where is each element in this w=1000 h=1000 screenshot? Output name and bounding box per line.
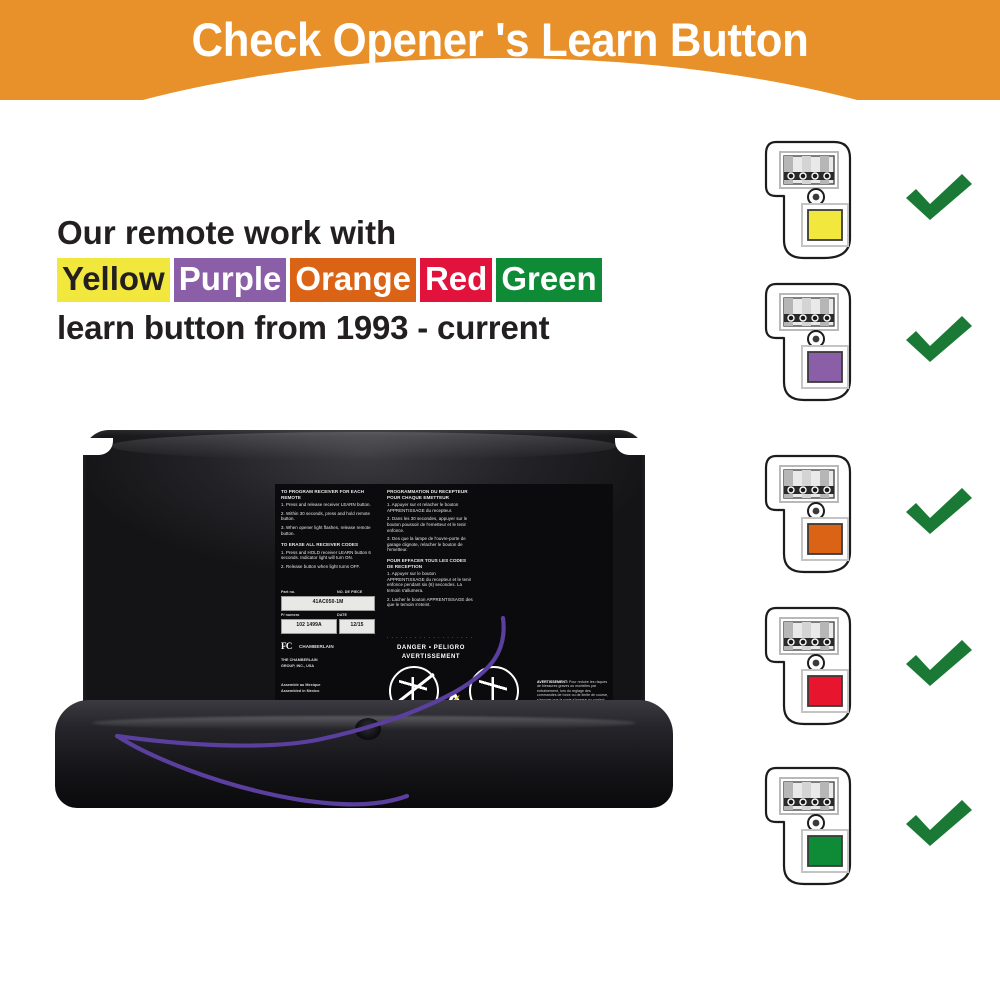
instruction-label: TO PROGRAM RECEIVER FOR EACH REMOTE 1. P… — [275, 484, 613, 716]
color-chip-green: Green — [496, 258, 601, 302]
label-head-erase-en: TO ERASE ALL RECEIVER CODES — [281, 542, 373, 548]
badge-row-orange — [752, 448, 1000, 580]
terminal-screw-3-icon — [812, 173, 818, 179]
company-line-1: THE CHAMBERLAIN — [281, 658, 318, 663]
checkmark-path — [906, 640, 972, 686]
indicator-led-center — [813, 194, 820, 201]
badge-row-purple — [752, 276, 1000, 408]
label-column-english: TO PROGRAM RECEIVER FOR EACH REMOTE 1. P… — [281, 489, 373, 573]
learn-button-badge-red — [762, 600, 860, 732]
color-chip-orange: Orange — [290, 258, 416, 302]
badge-row-green — [752, 760, 1000, 892]
base-screw-recess — [355, 718, 381, 740]
label-erase-en-1: 1. Press and HOLD receiver LEARN button … — [281, 550, 373, 561]
terminal-screw-1-icon — [788, 799, 794, 805]
checkmark-icon-yellow — [902, 168, 976, 226]
label-date-caption: DATE — [337, 613, 347, 618]
terminal-screw-4-icon — [824, 173, 830, 179]
label-serial-number: 102 1499A — [281, 619, 337, 634]
learn-button-swatch[interactable] — [808, 524, 842, 554]
terminal-screw-2-icon — [800, 315, 806, 321]
color-chip-yellow: Yellow — [57, 258, 170, 302]
label-part-number: 41AC050-1M — [281, 596, 375, 611]
terminal-screw-2-icon — [800, 799, 806, 805]
indicator-led-center — [813, 336, 820, 343]
terminal-screw-3-icon — [812, 639, 818, 645]
checkmark-path — [906, 488, 972, 534]
terminal-screw-4-icon — [824, 487, 830, 493]
terminal-screw-3-icon — [812, 799, 818, 805]
terminal-screw-4-icon — [824, 315, 830, 321]
housing-notch-right — [615, 438, 645, 455]
copy-line-3: learn button from 1993 - current — [57, 306, 677, 350]
label-head-erase-fr: POUR EFFACER TOUS LES CODES DE RECEPTION — [387, 558, 473, 569]
learn-button-badge-yellow — [762, 134, 860, 266]
company-line-2: GROUP, INC., USA — [281, 664, 314, 669]
copy-line-1: Our remote work with — [57, 211, 677, 255]
terminal-screw-3-icon — [812, 315, 818, 321]
learn-button-swatch[interactable] — [808, 352, 842, 382]
color-chip-row: YellowPurpleOrangeRedGreen — [57, 258, 677, 302]
label-column-french: PROGRAMMATION DU RECEPTEUR POUR CHAQUE E… — [387, 489, 473, 611]
header-banner: Check Opener 's Learn Button — [0, 0, 1000, 100]
indicator-led-center — [813, 820, 820, 827]
label-erase-fr-1: 1. Appuyer sur le bouton APPRENTISSAGE d… — [387, 571, 473, 593]
terminal-screw-1-icon — [788, 173, 794, 179]
terminal-screw-1-icon — [788, 487, 794, 493]
label-step-en-1: 1. Press and release receiver LEARN butt… — [281, 502, 373, 508]
label-step-fr-2: 2. Dans les 30 secondes, appuyer sur le … — [387, 516, 473, 533]
color-chip-red: Red — [420, 258, 492, 302]
learn-button-swatch[interactable] — [808, 676, 842, 706]
label-serial-caption: P/ numero — [281, 613, 299, 618]
terminal-screw-4-icon — [824, 639, 830, 645]
learn-button-badge-purple — [762, 276, 860, 408]
housing-sheen — [111, 432, 617, 460]
label-step-en-3: 3. When opener light flashes, release re… — [281, 525, 373, 536]
label-partno-caption: Part no. — [281, 590, 295, 595]
learn-button-badge-green — [762, 760, 860, 892]
terminal-screw-2-icon — [800, 639, 806, 645]
label-partno-caption-fr: NO. DE PIECE — [337, 590, 362, 595]
danger-heading: DANGER • PELIGRO — [385, 644, 477, 652]
indicator-led-center — [813, 508, 820, 515]
opener-product-image: TO PROGRAM RECEIVER FOR EACH REMOTE 1. P… — [55, 418, 675, 818]
checkmark-icon-red — [902, 634, 976, 692]
label-date-code: 12/15 — [339, 619, 375, 634]
label-erase-fr-2: 2. Lacher le bouton APPRENTISSAGE des qu… — [387, 597, 473, 608]
label-head-program-fr: PROGRAMMATION DU RECEPTEUR POUR CHAQUE E… — [387, 489, 473, 500]
checkmark-path — [906, 316, 972, 362]
terminal-screw-2-icon — [800, 173, 806, 179]
label-step-fr-1: 1. Appuyer sur et relacher le bouton APP… — [387, 502, 473, 513]
label-head-program-en: TO PROGRAM RECEIVER FOR EACH REMOTE — [281, 489, 373, 500]
assembled-line-1: Assemble au Mexique — [281, 683, 320, 688]
label-step-fr-3: 3. Des que la lampe de l'ouvre-porte de … — [387, 536, 473, 553]
opener-housing: TO PROGRAM RECEIVER FOR EACH REMOTE 1. P… — [83, 430, 645, 730]
warning-heading-fr: AVERTISSEMENT: — [537, 680, 568, 684]
indicator-led-center — [813, 660, 820, 667]
badge-row-red — [752, 600, 1000, 732]
compatibility-copy-block: Our remote work with YellowPurpleOrangeR… — [57, 211, 677, 350]
checkmark-path — [906, 174, 972, 220]
danger-heading-fr: AVERTISSEMENT — [385, 653, 477, 661]
assembled-line-2: Assembled in Mexico — [281, 689, 319, 694]
checkmark-icon-purple — [902, 310, 976, 368]
opener-base-cover — [55, 700, 673, 808]
checkmark-icon-orange — [902, 482, 976, 540]
fcc-logo: FC — [281, 642, 292, 651]
learn-button-badge-orange — [762, 448, 860, 580]
terminal-screw-1-icon — [788, 315, 794, 321]
checkmark-icon-green — [902, 794, 976, 852]
terminal-screw-3-icon — [812, 487, 818, 493]
terminal-screw-2-icon — [800, 487, 806, 493]
color-chip-purple: Purple — [174, 258, 287, 302]
label-step-en-2: 2. Within 30 seconds, press and hold rem… — [281, 511, 373, 522]
badge-row-yellow — [752, 134, 1000, 266]
page-title: Check Opener 's Learn Button — [35, 11, 965, 69]
label-dotted-divider: · · · · · · · · · · · · · · · · · · · — [387, 636, 473, 640]
terminal-screw-4-icon — [824, 799, 830, 805]
terminal-screw-1-icon — [788, 639, 794, 645]
housing-notch-left — [83, 438, 113, 455]
brand-name: CHAMBERLAIN — [299, 645, 334, 650]
checkmark-path — [906, 800, 972, 846]
learn-button-swatch[interactable] — [808, 836, 842, 866]
label-erase-en-2: 2. Release button when light turns OFF. — [281, 564, 373, 570]
learn-button-swatch[interactable] — [808, 210, 842, 240]
